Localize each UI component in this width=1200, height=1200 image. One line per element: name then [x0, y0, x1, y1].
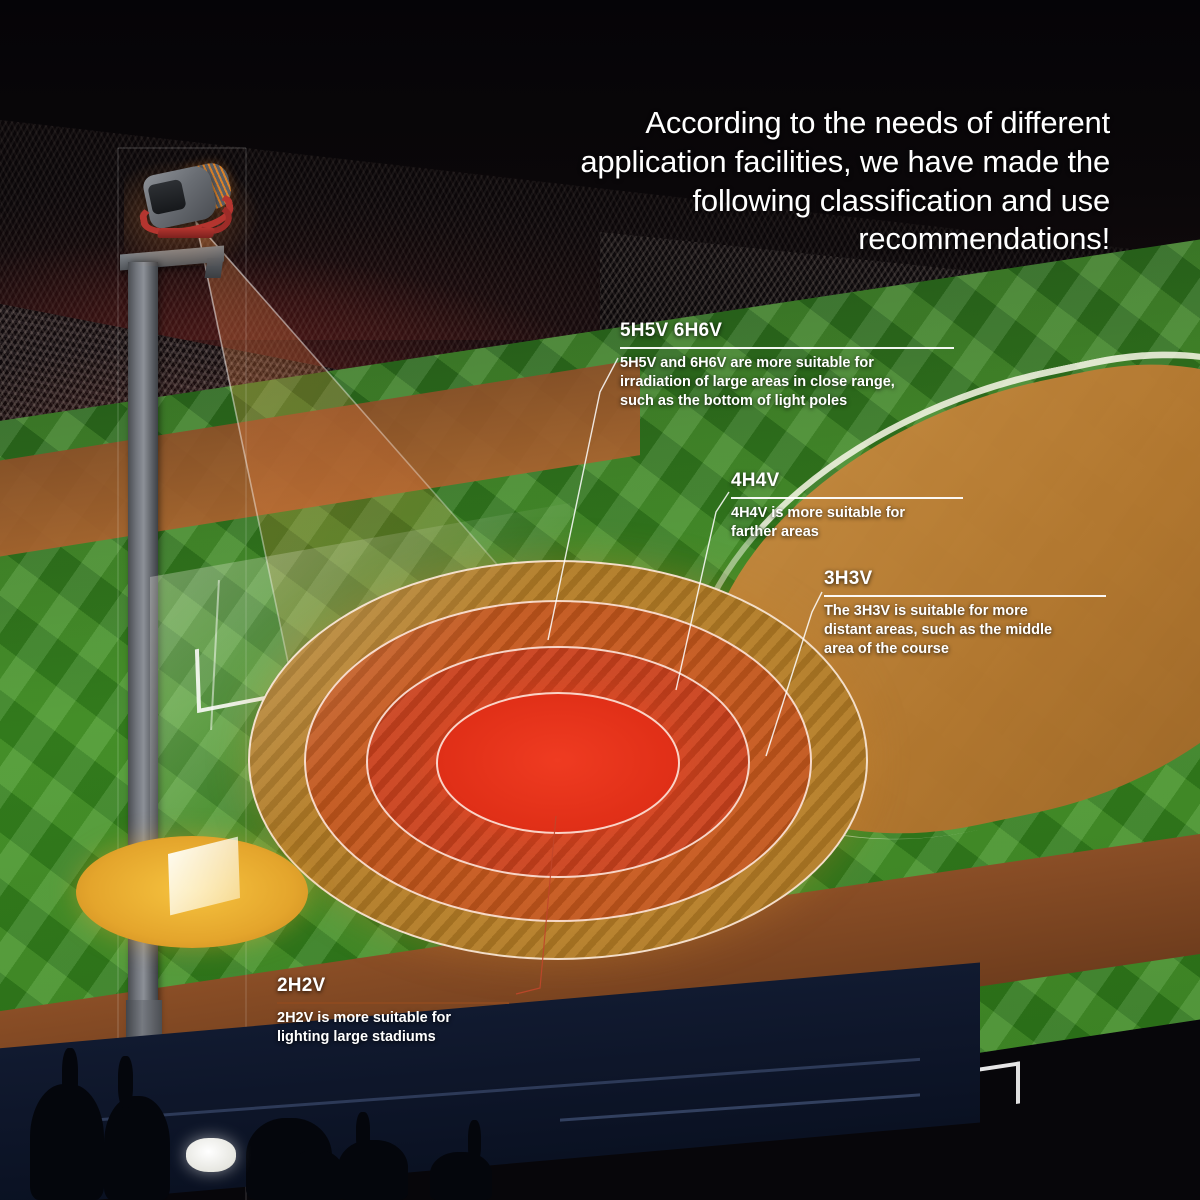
- phone-screen-glow: [186, 1138, 236, 1172]
- callout-title: 3H3V: [824, 568, 1106, 590]
- spectator-silhouette: [288, 1150, 344, 1200]
- spectator-silhouette: [430, 1152, 492, 1200]
- spectator-silhouette: [104, 1096, 170, 1200]
- callout-body-line-1: 4H4V is more suitable for: [731, 504, 963, 523]
- callout-body: 5H5V and 6H6V are more suitable for irra…: [620, 354, 954, 411]
- callout-3h3v[interactable]: 3H3V The 3H3V is suitable for more dista…: [824, 568, 1106, 659]
- callout-body-line-1: 5H5V and 6H6V are more suitable for: [620, 354, 954, 373]
- spectator-arm-silhouette: [62, 1048, 78, 1104]
- callout-body-line-2: irradiation of large areas in close rang…: [620, 373, 954, 392]
- headline-line-4: recommendations!: [470, 220, 1110, 259]
- callout-body: 4H4V is more suitable for farther areas: [731, 504, 963, 542]
- callout-title: 5H5V 6H6V: [620, 320, 954, 342]
- callout-body-line-1: 2H2V is more suitable for: [277, 1009, 509, 1028]
- callout-body-line-2: distant areas, such as the middle: [824, 621, 1106, 640]
- spectator-arm-silhouette: [118, 1056, 133, 1108]
- fixture-base-plate: [157, 228, 215, 238]
- callout-title: 4H4V: [731, 470, 963, 492]
- callout-body-line-1: The 3H3V is suitable for more: [824, 602, 1106, 621]
- floodlight-fixture[interactable]: [138, 152, 242, 256]
- callout-rule: [620, 347, 954, 349]
- spectator-silhouette: [338, 1140, 408, 1200]
- zone-2h2v[interactable]: [436, 692, 680, 834]
- pole-crossarm-lip: [205, 258, 224, 278]
- callout-5h5v-6h6v[interactable]: 5H5V 6H6V 5H5V and 6H6V are more suitabl…: [620, 320, 954, 411]
- infographic-canvas: advertisement advertisement advertisemen…: [0, 0, 1200, 1200]
- headline-line-1: According to the needs of different: [470, 104, 1110, 143]
- callout-body-line-3: area of the course: [824, 640, 1106, 659]
- callout-rule: [731, 497, 963, 499]
- page-title: According to the needs of different appl…: [470, 104, 1110, 259]
- callout-4h4v[interactable]: 4H4V 4H4V is more suitable for farther a…: [731, 470, 963, 542]
- callout-2h2v[interactable]: 2H2V 2H2V is more suitable for lighting …: [277, 975, 509, 1047]
- callout-body: The 3H3V is suitable for more distant ar…: [824, 602, 1106, 659]
- headline-line-3: following classification and use: [470, 182, 1110, 221]
- callout-body-line-3: such as the bottom of light poles: [620, 392, 954, 411]
- spectator-arm-silhouette: [468, 1120, 481, 1164]
- callout-body-line-2: farther areas: [731, 523, 963, 542]
- beam-coverage-zones: [248, 560, 868, 960]
- callout-title: 2H2V: [277, 975, 509, 997]
- callout-body: 2H2V is more suitable for lighting large…: [277, 1009, 509, 1047]
- headline-line-2: application facilities, we have made the: [470, 143, 1110, 182]
- callout-body-line-2: lighting large stadiums: [277, 1028, 509, 1047]
- callout-rule: [824, 595, 1106, 597]
- spectator-arm-silhouette: [356, 1112, 370, 1154]
- callout-rule: [277, 1002, 509, 1004]
